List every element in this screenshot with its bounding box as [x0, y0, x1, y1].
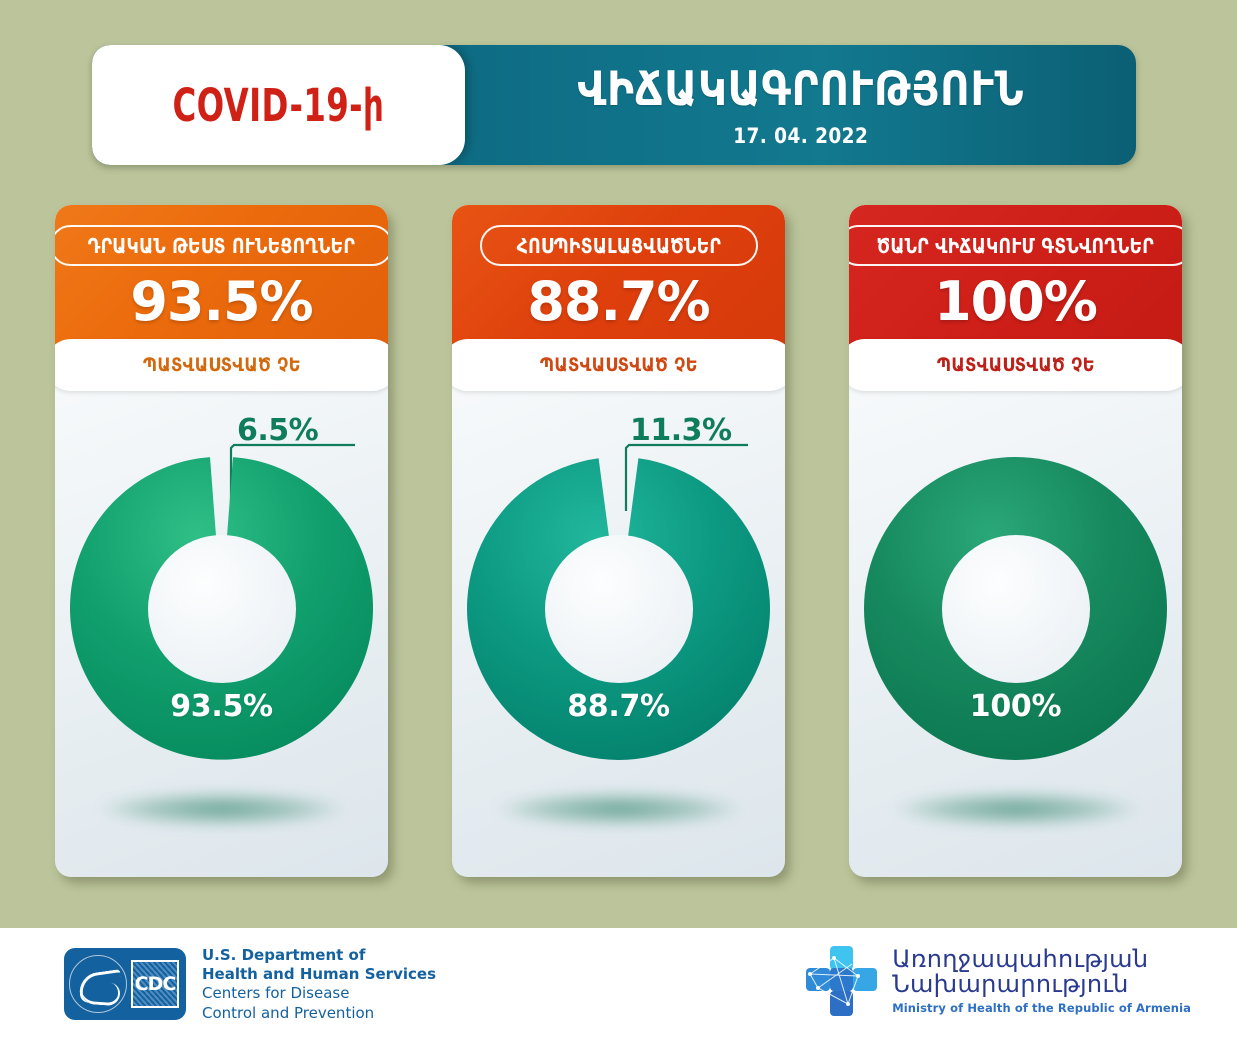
card-badge-label: ԾԱՆՐ ՎԻՃԱԿՈՒՄ ԳՏՆՎՈՂՆԵՐ [877, 234, 1154, 258]
donut-chart: 100% [860, 453, 1171, 764]
card-badge: ԴՐԱԿԱՆ ԹԵՍՏ ՈՒՆԵՑՈՂՆԵՐ [55, 225, 388, 266]
card-subtitle-label: ՊԱՏՎԱՍՏՎԱԾ ՉԵ [936, 354, 1094, 376]
cdc-line-2: Health and Human Services [202, 965, 436, 984]
stat-card-severe-condition: ԾԱՆՐ ՎԻՃԱԿՈՒՄ ԳՏՆՎՈՂՆԵՐ 100% ՊԱՏՎԱՍՏՎԱԾ … [849, 205, 1182, 877]
header-brand-title: COVID-19-ի [173, 79, 385, 132]
ministry-of-health-logo: Առողջապահության Նախարարություն Ministry … [804, 944, 1191, 1018]
card-badge-label: ՀՈՍՊԻՏԱԼԱՑՎԱԾՆԵՐ [516, 234, 720, 258]
cdc-wordmark-box: CDC [131, 960, 179, 1008]
donut-shadow [495, 791, 743, 827]
stat-card-group: ԴՐԱԿԱՆ ԹԵՍՏ ՈՒՆԵՑՈՂՆԵՐ 93.5% ՊԱՏՎԱՍՏՎԱԾ … [0, 205, 1237, 885]
donut-callout-label: 6.5% [237, 413, 318, 448]
donut-chart: 93.5% [66, 453, 377, 764]
donut-value-label: 93.5% [66, 689, 377, 724]
page-footer: CDC U.S. Department of Health and Human … [0, 928, 1237, 1046]
page-title: ՎԻՃԱԿԱԳՐՈՒԹՅՈՒՆ [577, 66, 1024, 113]
card-header: ՀՈՍՊԻՏԱԼԱՑՎԱԾՆԵՐ 88.7% [452, 205, 785, 357]
card-badge: ԾԱՆՐ ՎԻՃԱԿՈՒՄ ԳՏՆՎՈՂՆԵՐ [849, 225, 1182, 266]
card-subtitle-label: ՊԱՏՎԱՍՏՎԱԾ ՉԵ [142, 354, 300, 376]
donut-hole [545, 535, 693, 683]
moh-line-3: Ministry of Health of the Republic of Ar… [892, 1001, 1191, 1015]
card-subtitle-pill: ՊԱՏՎԱՍՏՎԱԾ ՉԵ [849, 339, 1182, 391]
stat-card-positive-tests: ԴՐԱԿԱՆ ԹԵՍՏ ՈՒՆԵՑՈՂՆԵՐ 93.5% ՊԱՏՎԱՍՏՎԱԾ … [55, 205, 388, 877]
cdc-logo-text: U.S. Department of Health and Human Serv… [202, 946, 436, 1023]
moh-line-1: Առողջապահության [892, 947, 1191, 972]
cdc-line-4: Control and Prevention [202, 1004, 436, 1023]
cdc-mark-icon: CDC [64, 948, 186, 1020]
cdc-line-3: Centers for Disease [202, 984, 436, 1003]
header-brand-panel: COVID-19-ի [92, 45, 465, 165]
card-subtitle-pill: ՊԱՏՎԱՍՏՎԱԾ ՉԵ [55, 339, 388, 391]
cdc-wordmark-text: CDC [135, 973, 176, 995]
cdc-line-1: U.S. Department of [202, 946, 436, 965]
hhs-seal-icon [69, 955, 127, 1013]
header-title-panel: ՎԻՃԱԿԱԳՐՈՒԹՅՈՒՆ 17. 04. 2022 [465, 45, 1136, 165]
card-subtitle-label: ՊԱՏՎԱՍՏՎԱԾ ՉԵ [539, 354, 697, 376]
moh-logo-text: Առողջապահության Նախարարություն Ministry … [892, 947, 1191, 1015]
card-badge: ՀՈՍՊԻՏԱԼԱՑՎԱԾՆԵՐ [480, 225, 758, 266]
donut-value-label: 100% [860, 689, 1171, 724]
card-badge-label: ԴՐԱԿԱՆ ԹԵՍՏ ՈՒՆԵՑՈՂՆԵՐ [88, 234, 355, 258]
moh-cross-icon [804, 944, 878, 1018]
donut-chart-area: 6.5% 93.5% [55, 391, 388, 877]
donut-chart-area: 100% [849, 391, 1182, 877]
donut-value-label: 88.7% [463, 689, 774, 724]
report-date: 17. 04. 2022 [733, 124, 868, 148]
card-value: 88.7% [527, 275, 709, 329]
card-subtitle-pill: ՊԱՏՎԱՍՏՎԱԾ ՉԵ [452, 339, 785, 391]
donut-hole [942, 535, 1090, 683]
cdc-logo: CDC U.S. Department of Health and Human … [64, 946, 436, 1023]
donut-chart: 88.7% [463, 453, 774, 764]
card-header: ԾԱՆՐ ՎԻՃԱԿՈՒՄ ԳՏՆՎՈՂՆԵՐ 100% [849, 205, 1182, 357]
card-value: 100% [934, 275, 1097, 329]
moh-network-lines-icon [804, 944, 878, 1018]
card-value: 93.5% [130, 275, 312, 329]
donut-shadow [892, 791, 1140, 827]
donut-callout-label: 11.3% [630, 413, 732, 448]
page-header: COVID-19-ի ՎԻՃԱԿԱԳՐՈՒԹՅՈՒՆ 17. 04. 2022 [92, 45, 1136, 165]
donut-shadow [98, 791, 346, 827]
donut-hole [148, 535, 296, 683]
stat-card-hospitalized: ՀՈՍՊԻՏԱԼԱՑՎԱԾՆԵՐ 88.7% ՊԱՏՎԱՍՏՎԱԾ ՉԵ 11.… [452, 205, 785, 877]
donut-chart-area: 11.3% 88.7% [452, 391, 785, 877]
moh-line-2: Նախարարություն [892, 972, 1191, 997]
card-header: ԴՐԱԿԱՆ ԹԵՍՏ ՈՒՆԵՑՈՂՆԵՐ 93.5% [55, 205, 388, 357]
